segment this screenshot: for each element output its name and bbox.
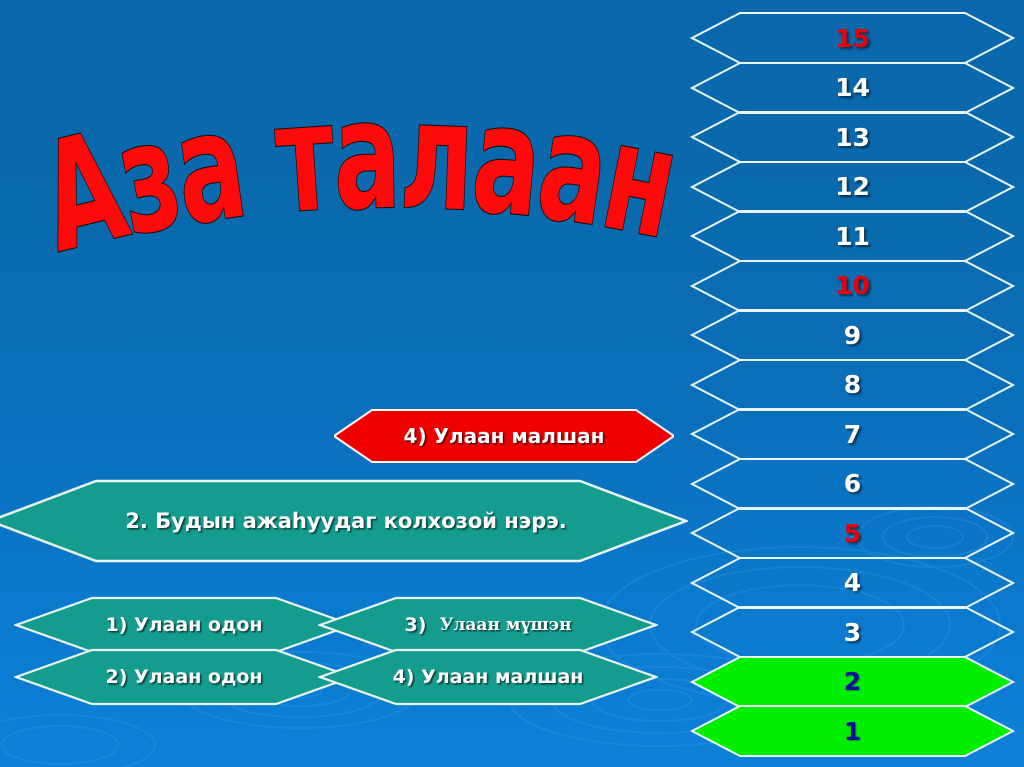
option-3-number: 3) — [404, 614, 426, 636]
option-1-label: 1) Улаан одон — [14, 596, 354, 654]
answer-banner-label: 4) Улаан малшан — [334, 408, 674, 464]
option-2-label: 2) Улаан одон — [14, 648, 354, 706]
ladder-rung-number-1: 1 — [690, 702, 1015, 760]
option-3-label: 3) Улаан мүшэн — [318, 596, 658, 654]
option-1[interactable]: 1) Улаан одон — [14, 596, 354, 654]
page-title: Аза талаан — [40, 20, 680, 270]
answer-banner[interactable]: 4) Улаан малшан — [334, 408, 674, 464]
score-ladder: 151413121110987654321 — [690, 0, 1020, 767]
page-title-text: Аза талаан — [25, 69, 688, 287]
ladder-rung-1[interactable]: 1 — [690, 702, 1015, 760]
question-banner: 2. Будын ажаһуудаг колхозой нэрэ. — [0, 478, 688, 564]
option-4-label: 4) Улаан малшан — [318, 648, 658, 706]
question-text: 2. Будын ажаһуудаг колхозой нэрэ. — [0, 478, 688, 564]
slide-canvas: Аза талаан 4) Улаан малшан 2. Будын ажаһ… — [0, 0, 1024, 767]
option-4[interactable]: 4) Улаан малшан — [318, 648, 658, 706]
option-3-text: Улаан мүшэн — [440, 615, 572, 635]
option-2[interactable]: 2) Улаан одон — [14, 648, 354, 706]
option-3[interactable]: 3) Улаан мүшэн — [318, 596, 658, 654]
